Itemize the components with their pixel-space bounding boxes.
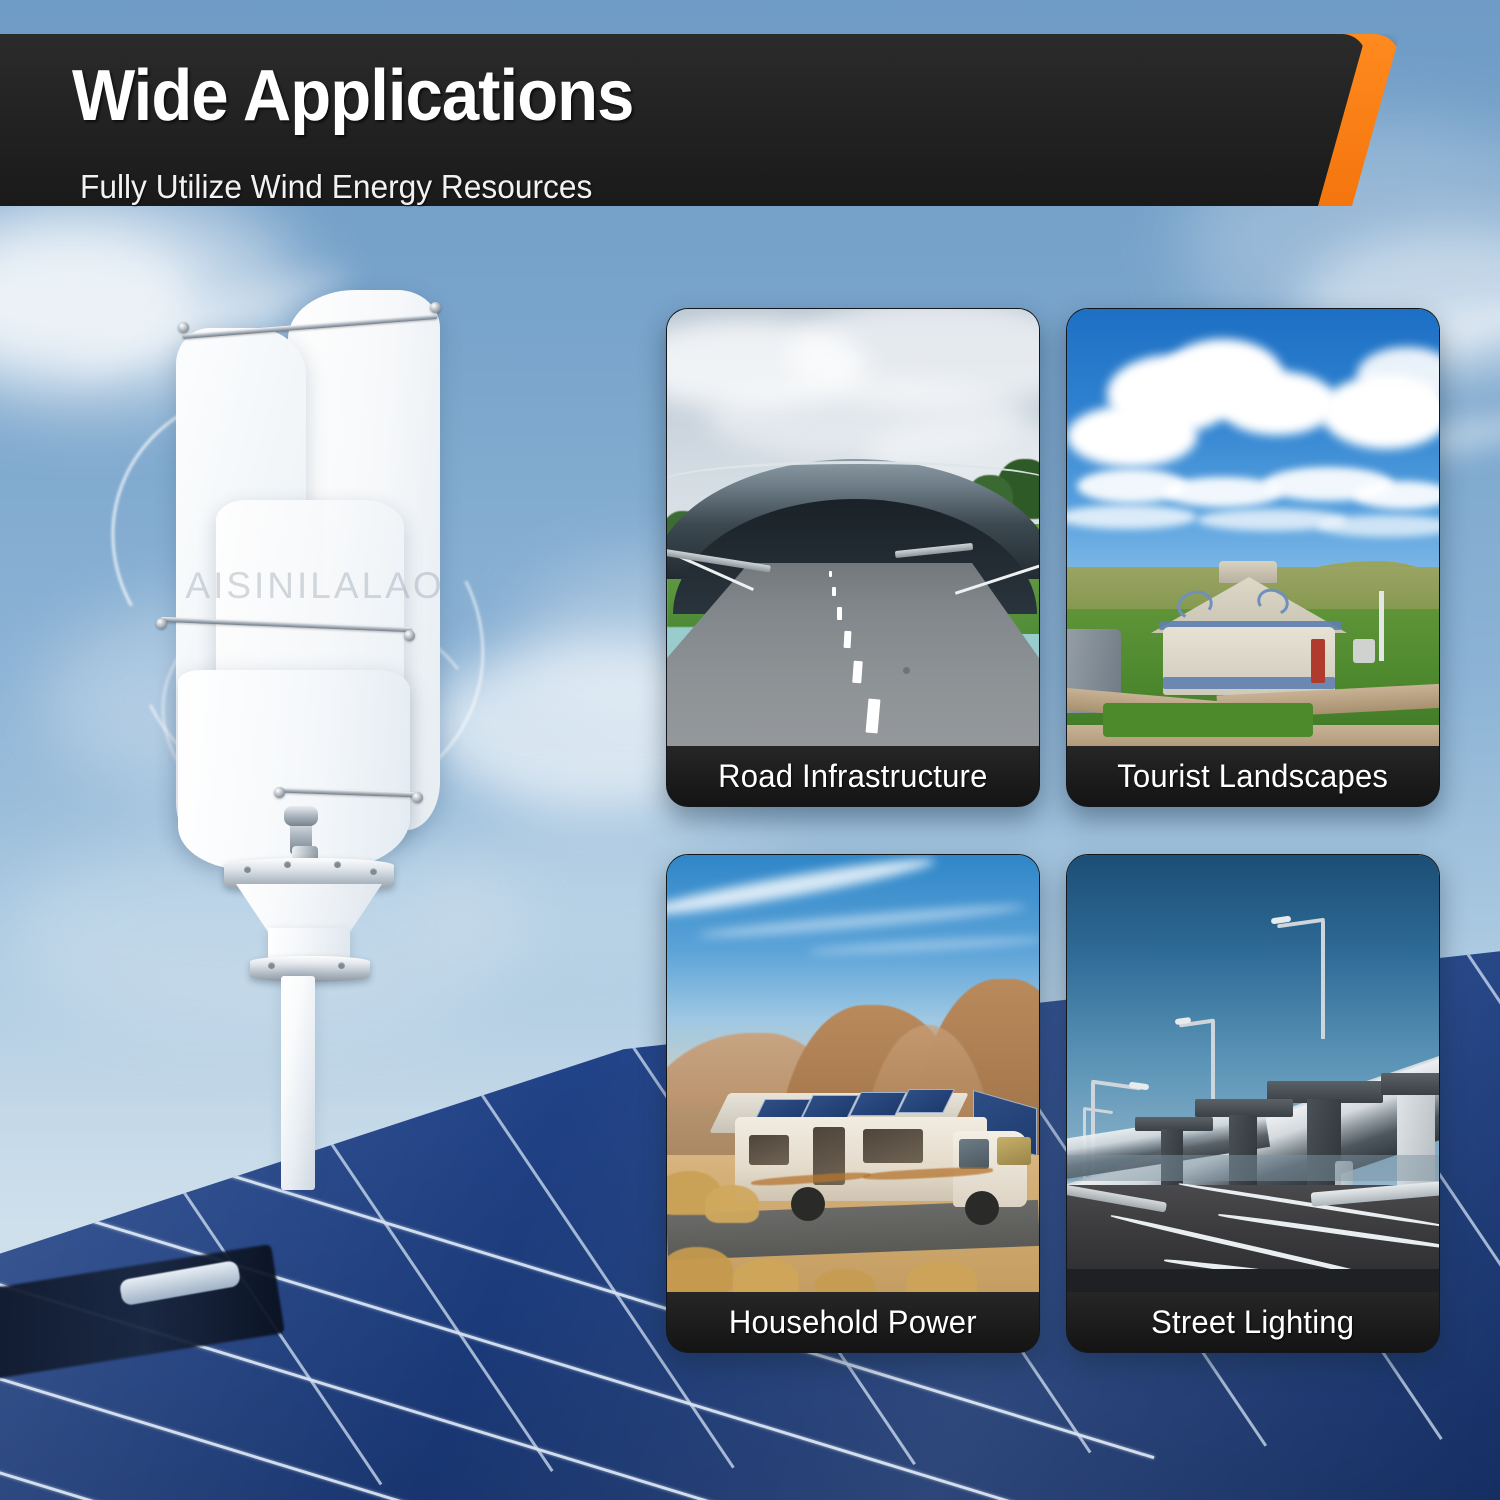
card-photo-street-lighting	[1067, 855, 1439, 1295]
application-card-street-lighting[interactable]: Street Lighting	[1066, 854, 1440, 1353]
card-label: Tourist Landscapes	[1118, 758, 1389, 795]
page-subtitle: Fully Utilize Wind Energy Resources	[80, 168, 592, 206]
generator-housing	[236, 884, 382, 932]
brand-watermark: AISINILALAO	[150, 565, 480, 607]
application-showcase-image: AISINILALAO Wide Applications Fully Uti	[0, 0, 1500, 1500]
application-card-household-power[interactable]: Household Power	[666, 854, 1040, 1353]
vertical-axis-wind-turbine: AISINILALAO	[120, 270, 500, 1190]
header-banner: Wide Applications Fully Utilize Wind Ene…	[0, 34, 1400, 206]
turbine-pole	[281, 976, 315, 1190]
card-photo-household-power	[667, 855, 1039, 1295]
card-caption-tourist-landscapes: Tourist Landscapes	[1067, 746, 1439, 806]
card-photo-tourist-landscapes	[1067, 309, 1439, 749]
application-card-tourist-landscapes[interactable]: Tourist Landscapes	[1066, 308, 1440, 807]
application-card-road-infrastructure[interactable]: Road Infrastructure	[666, 308, 1040, 807]
page-title: Wide Applications	[72, 55, 633, 137]
card-label: Road Infrastructure	[718, 758, 987, 795]
card-caption-road-infrastructure: Road Infrastructure	[667, 746, 1039, 806]
card-photo-road-infrastructure	[667, 309, 1039, 749]
application-card-grid: Road Infrastructure	[666, 308, 1448, 1352]
card-caption-household-power: Household Power	[667, 1292, 1039, 1352]
card-label: Street Lighting	[1151, 1304, 1354, 1341]
card-caption-street-lighting: Street Lighting	[1067, 1292, 1439, 1352]
card-label: Household Power	[729, 1304, 977, 1341]
